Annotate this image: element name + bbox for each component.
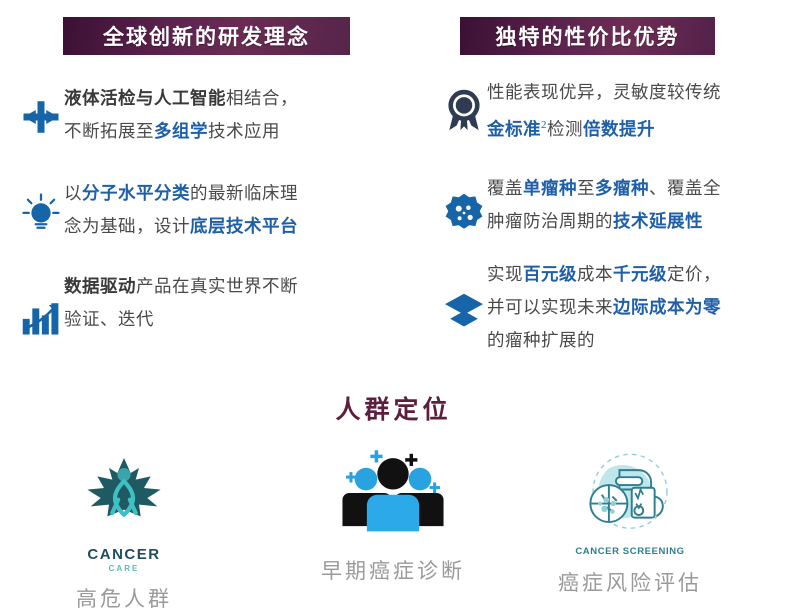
text-run: 实现 [487,264,523,284]
medal-award-icon [441,76,487,132]
bullet-left-3-text: 数据驱动产品在真实世界不断验证、迭代 [64,270,298,336]
text-run: 覆盖 [487,178,523,198]
text-run: 分子水平分类 [82,183,190,203]
bullet-right-2-text: 覆盖单瘤种至多瘤种、覆盖全肿瘤防治周期的技术延展性 [487,172,721,238]
persona-card-3: CANCER SCREENING 癌症风险评估 [530,440,730,597]
banner-left: 全球创新的研发理念 [63,17,350,55]
section-title: 人群定位 [0,390,787,426]
text-run: 相结合， [226,88,298,108]
banner-right-title: 独特的性价比优势 [496,21,680,51]
persona-card-1: CANCER CARE 高危人群 [24,440,224,613]
banner-left-title: 全球创新的研发理念 [103,21,310,51]
text-run: 金标准 [487,119,541,139]
bullet-left-1-text: 液体活检与人工智能相结合，不断拓展至多组学技术应用 [64,82,298,148]
cancer-care-logo-sub: CARE [24,564,224,573]
slide-root: 全球创新的研发理念 独特的性价比优势 液体活检与人工智能相结合，不断拓展至多组学… [0,0,787,614]
bullet-line: 金标准2检测倍数提升 [487,109,721,146]
bullet-line: 覆盖单瘤种至多瘤种、覆盖全 [487,172,721,205]
text-run: 、覆盖全 [649,178,721,198]
text-run: 技术延展性 [613,211,703,231]
persona-caption-1: 高危人群 [24,583,224,613]
cancer-care-logo [24,440,224,545]
text-run: 百元级 [523,264,577,284]
bullet-line: 数据驱动产品在真实世界不断 [64,270,298,303]
bullet-right-1: 性能表现优异，灵敏度较传统金标准2检测倍数提升 [441,76,721,146]
bullet-line: 念为基础，设计底层技术平台 [64,210,298,243]
bar-chart-growth-icon [18,270,64,338]
bullet-line: 的瘤种扩展的 [487,324,721,357]
expand-arrows-icon [18,82,64,138]
people-group-icon [293,440,493,545]
bullet-right-3: 实现百元级成本千元级定价，并可以实现未来边际成本为零的瘤种扩展的 [441,258,721,357]
text-run: 的最新临床理 [190,183,298,203]
text-run: 数据驱动 [64,276,136,296]
banner-right: 独特的性价比优势 [460,17,715,55]
text-run: 倍数提升 [583,119,655,139]
text-run: 验证、迭代 [64,309,154,329]
text-run: 成本 [577,264,613,284]
text-run: 的瘤种扩展的 [487,330,595,350]
bullet-left-1: 液体活检与人工智能相结合，不断拓展至多组学技术应用 [18,82,298,148]
text-run: 不断拓展至 [64,121,154,141]
text-run: 底层技术平台 [190,216,298,236]
persona-caption-3: 癌症风险评估 [530,567,730,597]
text-run: 定价， [667,264,721,284]
bullet-line: 不断拓展至多组学技术应用 [64,115,298,148]
text-run: 单瘤种 [523,178,577,198]
text-run: 液体活检与人工智能 [64,88,226,108]
text-run: 至 [577,178,595,198]
bullet-line: 以分子水平分类的最新临床理 [64,177,298,210]
bullet-right-2: 覆盖单瘤种至多瘤种、覆盖全肿瘤防治周期的技术延展性 [441,172,721,238]
bullet-right-1-text: 性能表现优异，灵敏度较传统金标准2检测倍数提升 [487,76,721,146]
bullet-left-2-text: 以分子水平分类的最新临床理念为基础，设计底层技术平台 [64,177,298,243]
text-run: 以 [64,183,82,203]
cancer-screening-illustration [530,440,730,545]
layers-stack-icon [441,258,487,330]
bullet-left-3: 数据驱动产品在真实世界不断验证、迭代 [18,270,298,338]
persona-caption-2: 早期癌症诊断 [293,555,493,585]
text-run: 性能表现优异，灵敏度较传统 [487,82,721,102]
bullet-line: 并可以实现未来边际成本为零 [487,291,721,324]
bullet-left-2: 以分子水平分类的最新临床理念为基础，设计底层技术平台 [18,177,298,243]
bullet-line: 性能表现优异，灵敏度较传统 [487,76,721,109]
bullet-line: 肿瘤防治周期的技术延展性 [487,205,721,238]
bullet-line: 验证、迭代 [64,303,298,336]
cancer-care-logo-word: CANCER [24,547,224,562]
cancer-cell-icon [441,172,487,234]
bullet-line: 实现百元级成本千元级定价， [487,258,721,291]
text-run: 边际成本为零 [613,297,721,317]
text-run: 念为基础，设计 [64,216,190,236]
bullet-right-3-text: 实现百元级成本千元级定价，并可以实现未来边际成本为零的瘤种扩展的 [487,258,721,357]
text-run: 产品在真实世界不断 [136,276,298,296]
text-run: 千元级 [613,264,667,284]
text-run: 技术应用 [208,121,280,141]
text-run: 检测 [547,119,583,139]
text-run: 肿瘤防治周期的 [487,211,613,231]
cancer-screening-word: CANCER SCREENING [530,546,730,557]
text-run: 多组学 [154,121,208,141]
persona-card-2: 早期癌症诊断 [293,440,493,585]
lightbulb-icon [18,177,64,233]
bullet-line: 液体活检与人工智能相结合， [64,82,298,115]
text-run: 并可以实现未来 [487,297,613,317]
text-run: 多瘤种 [595,178,649,198]
